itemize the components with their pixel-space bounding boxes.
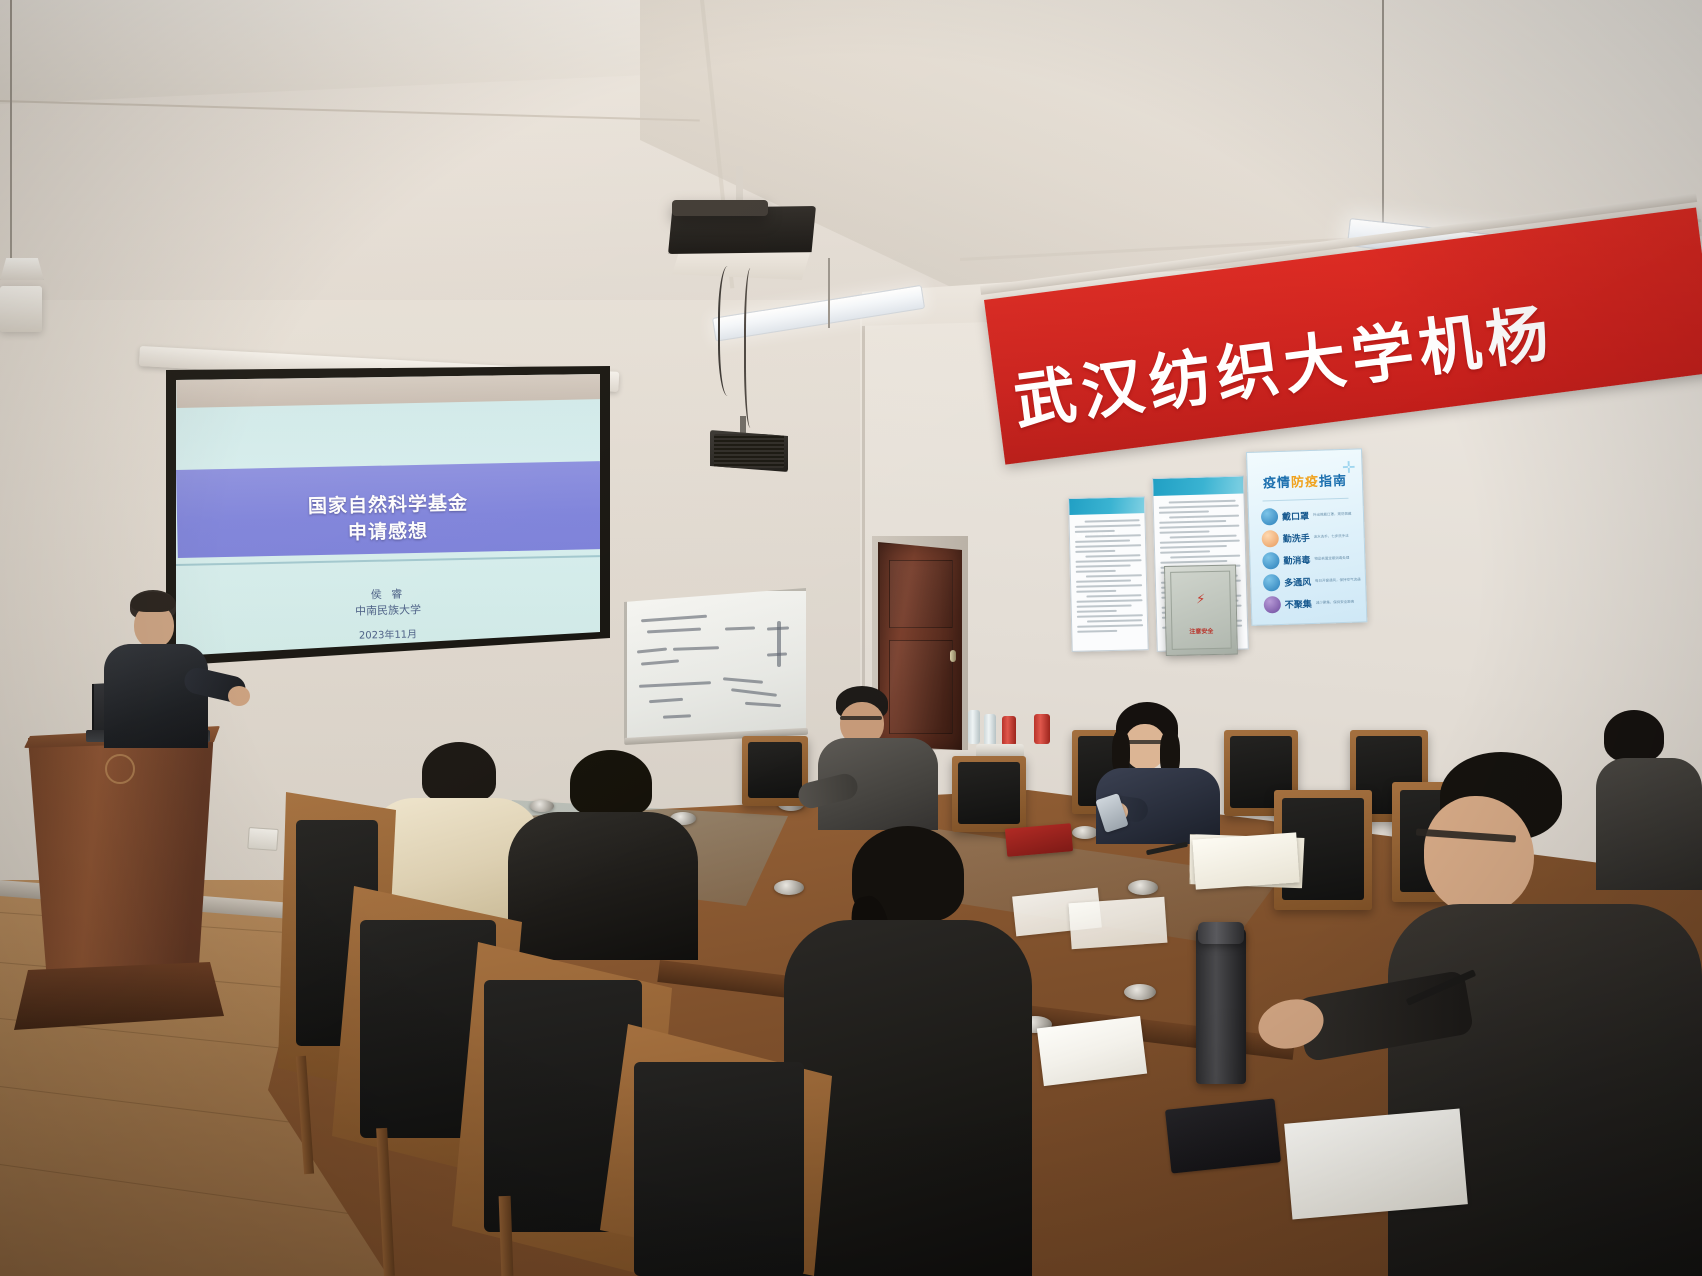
covid-guidance-poster: ✛ 疫情防疫指南 戴口罩 外出佩戴口罩，规范佩戴 勤洗手 流水洗手，七步洗手法 … (1246, 448, 1367, 626)
tube-light-center-cord (828, 258, 830, 328)
pendant-lamp-left-lower (0, 286, 42, 332)
red-booklet[interactable] (1005, 823, 1073, 857)
pendant-cord-left (10, 0, 12, 258)
covid-item-0-label: 戴口罩 (1282, 509, 1309, 523)
table-socket-10[interactable] (1124, 984, 1156, 1000)
water-bottle-3 (1002, 716, 1016, 746)
speaker-grill (714, 434, 784, 468)
covid-item-3: 多通风 每日开窗通风，保持空气流通 (1263, 571, 1361, 591)
seated-man-glasses (840, 716, 882, 720)
covid-item-0-note: 外出佩戴口罩，规范佩戴 (1313, 512, 1352, 518)
thermos-flask[interactable] (1196, 928, 1246, 1084)
covid-title-part1: 疫情 (1263, 476, 1291, 492)
wall-poster-left-body (1074, 519, 1143, 636)
right-glasses-torso (1388, 904, 1702, 1276)
electrical-cabinet: ⚡ 注意安全 (1164, 564, 1238, 655)
covid-item-2-note: 物品表面定期消毒处理 (1314, 556, 1349, 562)
door-handle[interactable] (950, 650, 956, 662)
pendant-lamp-left (0, 258, 44, 280)
covid-divider-top (1263, 498, 1349, 502)
table-socket-7[interactable] (1128, 880, 1158, 895)
presenter-hair-top (131, 592, 175, 612)
open-notebook-page (1192, 832, 1299, 889)
water-bottle-1 (968, 710, 980, 744)
presenter-torso (104, 644, 208, 748)
speaker-bracket (740, 416, 746, 434)
covid-item-0: 戴口罩 外出佩戴口罩，规范佩戴 (1261, 506, 1352, 526)
wall-poster-left-header (1069, 497, 1144, 515)
projector-lens-housing (672, 200, 768, 216)
wall-speaker (710, 430, 788, 472)
chair-far-1-pad (748, 742, 802, 798)
lightning-bolt-icon: ⚡ (1196, 592, 1205, 607)
person-seated-man-far (812, 686, 958, 826)
slide-rule-line (176, 555, 600, 566)
paper-sheet-2[interactable] (1284, 1109, 1468, 1220)
wall-poster-left: 安全生产管理制度 (1068, 496, 1149, 652)
person-audience-ponytail-woman (784, 826, 1032, 1276)
covid-item-1-label: 勤洗手 (1283, 531, 1310, 545)
covid-item-2-label: 勤消毒 (1283, 553, 1310, 567)
dark-jacket-hair (570, 750, 652, 816)
covid-title-part2: 防疫 (1291, 475, 1319, 491)
wall-outlet[interactable] (247, 827, 278, 851)
whiteboard (624, 588, 812, 746)
phone-case-on-table[interactable] (1165, 1098, 1281, 1173)
projector-cable (718, 266, 742, 396)
water-bottle-4 (1034, 714, 1050, 744)
chair-foreground-4-pad (634, 1062, 804, 1276)
person-audience-dark-jacket (508, 750, 698, 960)
ventilate-icon (1263, 574, 1281, 592)
cream-sweater-hair (422, 742, 496, 802)
podium-emblem (105, 754, 135, 784)
electrical-warning-label: 注意安全 (1189, 626, 1213, 636)
projector-cable-2 (744, 268, 760, 428)
covid-item-4: 不聚集 减少聚集，保持安全距离 (1264, 594, 1355, 614)
disinfect-icon (1262, 552, 1280, 570)
wall-poster-right-header (1153, 476, 1243, 496)
person-presenter (76, 590, 246, 750)
photo-scene: 国家自然科学基金 申请感想 侯 睿 中南民族大学 2023年11月 武汉纺织大学… (0, 0, 1702, 1276)
right-glasses-face (1424, 796, 1534, 914)
water-bottle-2 (984, 714, 996, 746)
covid-item-3-label: 多通风 (1284, 575, 1311, 589)
dark-jacket-torso (508, 812, 698, 960)
no-gathering-icon (1264, 596, 1282, 614)
covid-item-4-note: 减少聚集，保持安全距离 (1316, 600, 1355, 606)
covid-item-1-note: 流水洗手，七步洗手法 (1314, 534, 1349, 540)
thermos-cap (1198, 922, 1244, 944)
door-panel-upper (889, 560, 953, 628)
covid-item-2: 勤消毒 物品表面定期消毒处理 (1262, 550, 1350, 570)
covid-poster-title: 疫情防疫指南 (1248, 469, 1363, 492)
chair-far-2-pad (958, 762, 1020, 824)
handwash-icon (1261, 530, 1279, 548)
right-edge-hair (1604, 710, 1664, 762)
electrical-cabinet-door[interactable] (1170, 571, 1232, 650)
covid-title-part3: 指南 (1319, 474, 1347, 490)
mask-icon (1261, 508, 1279, 526)
covid-item-1: 勤洗手 流水洗手，七步洗手法 (1261, 528, 1349, 548)
right-edge-torso (1596, 758, 1702, 890)
paper-sheet-4[interactable] (1069, 897, 1168, 950)
covid-item-3-note: 每日开窗通风，保持空气流通 (1315, 577, 1361, 584)
person-audience-right-edge (1596, 710, 1702, 890)
presenter-hand (228, 686, 250, 706)
covid-item-4-label: 不聚集 (1285, 597, 1312, 611)
